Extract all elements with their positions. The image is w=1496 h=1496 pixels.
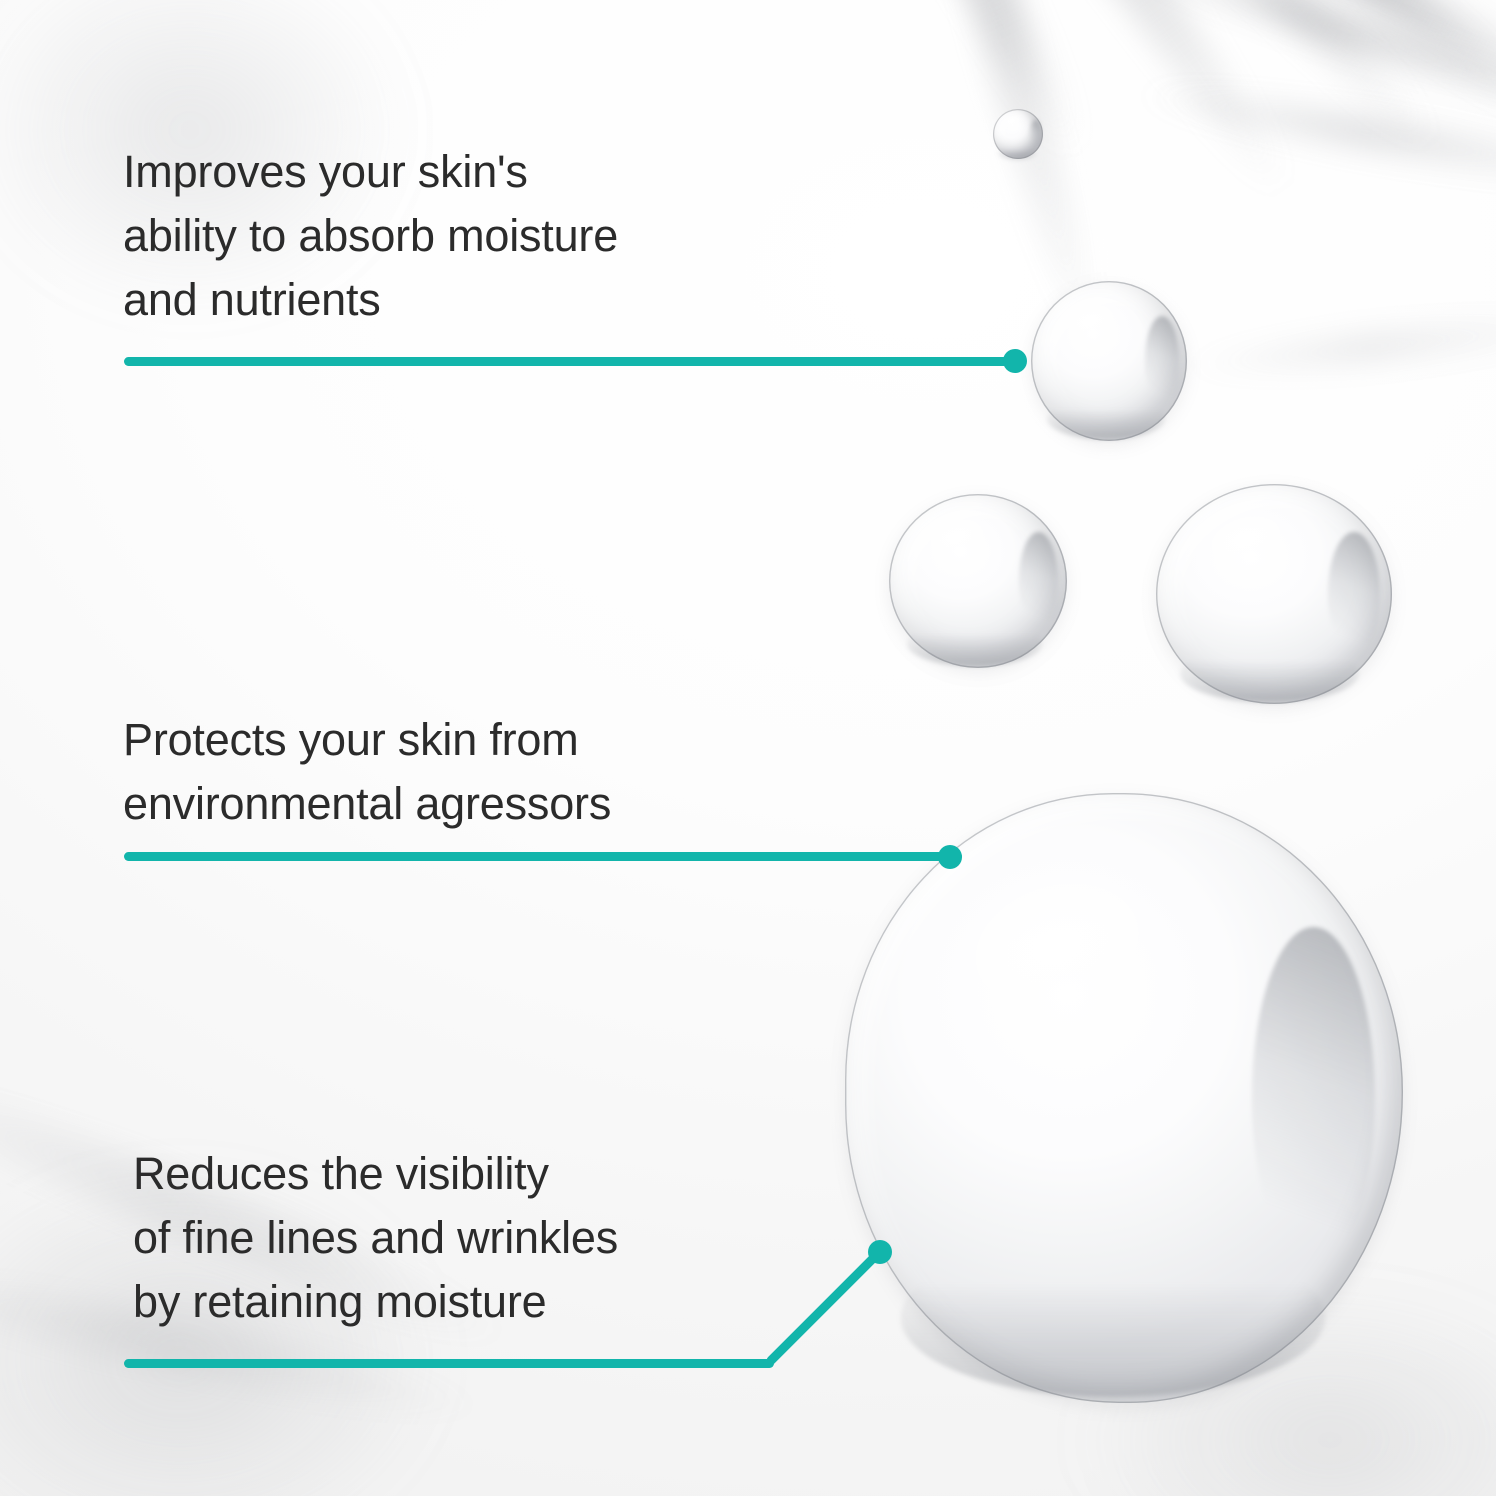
callout-absorption-leader-dot (1003, 349, 1027, 373)
droplet-rim (1047, 398, 1166, 440)
callout-fine-lines-leader-dot (868, 1240, 892, 1264)
large-water-droplet-icon (845, 793, 1403, 1403)
callout-fine-lines-leader-line-horizontal (124, 1359, 774, 1368)
callout-absorption-text: Improves your skin's ability to absorb m… (123, 140, 883, 332)
droplet-rim (907, 621, 1042, 666)
droplet-rim (1180, 645, 1359, 702)
callout-protection-text: Protects your skin from environmental ag… (123, 708, 923, 836)
droplet-rim (998, 146, 1036, 159)
infographic-canvas: Improves your skin's ability to absorb m… (0, 0, 1496, 1496)
medium-water-droplet-left-icon (889, 494, 1067, 668)
callout-protection-leader-line (124, 852, 962, 861)
small-water-droplet-icon (1031, 281, 1187, 441)
tiny-water-droplet-icon (993, 109, 1043, 159)
callout-fine-lines-text: Reduces the visibility of fine lines and… (133, 1142, 923, 1334)
droplet-rim (901, 1238, 1325, 1397)
callout-protection-leader-dot (938, 845, 962, 869)
callout-absorption-leader-line (124, 357, 1022, 366)
medium-water-droplet-right-icon (1156, 484, 1392, 704)
